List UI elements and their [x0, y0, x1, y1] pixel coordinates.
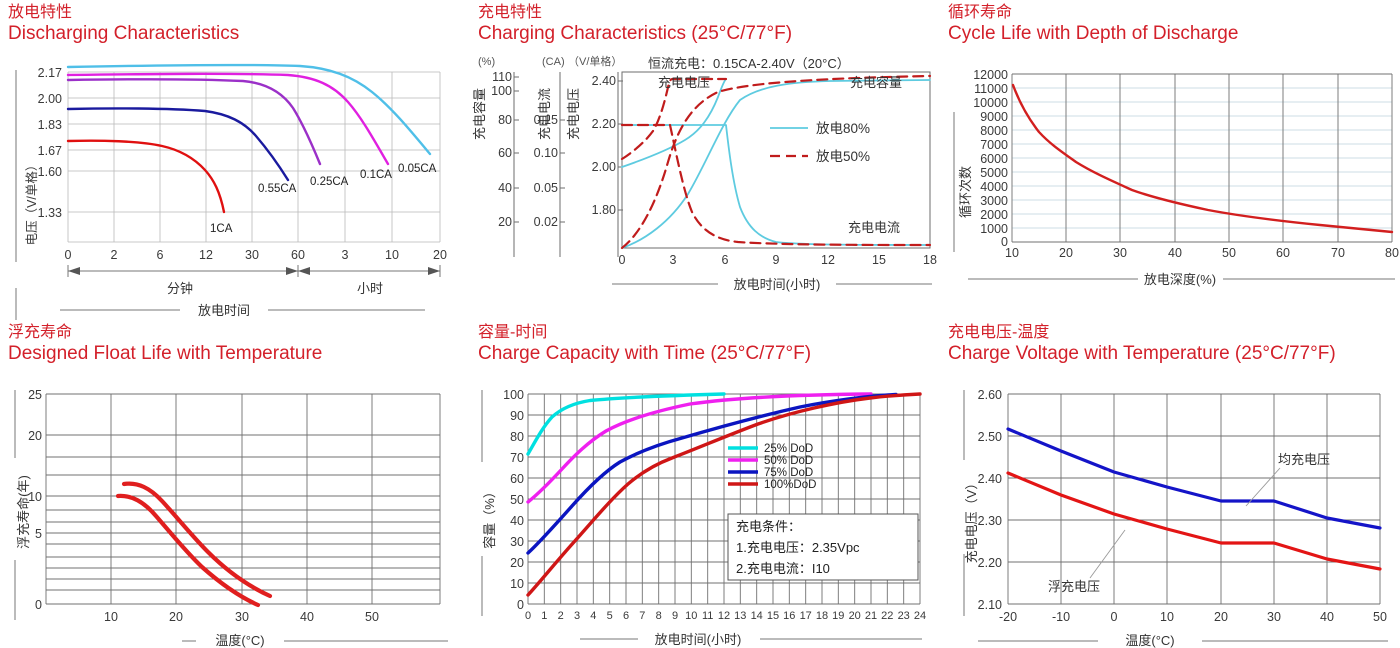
x-axis-label: 放电时间 — [198, 303, 250, 318]
y2tick: 0.10 — [534, 146, 558, 160]
ytick: 20 — [510, 556, 524, 570]
note-line-3: 2.充电电流：I10 — [736, 561, 830, 576]
ytick: 25 — [28, 388, 42, 402]
panel-charging-chart: 恒流充电：0.15CA-2.40V（20°C） (%) (CA) （V/单格） … — [470, 52, 940, 320]
annotation-equalize-voltage: 均充电压 — [1278, 452, 1330, 467]
xtick: 24 — [914, 610, 926, 622]
grid-lines — [46, 394, 440, 604]
ytick: 12000 — [973, 68, 1008, 82]
panel-chargecapacity-chart: 容量（%） — [470, 372, 940, 648]
xtick: 20 — [169, 610, 183, 624]
panel-chargecapacity: 容量-时间 Charge Capacity with Time (25°C/77… — [470, 320, 940, 648]
panel-cyclelife-chart: 循环次数 — [940, 52, 1400, 320]
ytick: 10 — [510, 577, 524, 591]
y2tick: 0.15 — [534, 113, 558, 127]
xtick: 5 — [607, 610, 613, 622]
xtick: 9 — [672, 610, 678, 622]
ytick: 6000 — [980, 152, 1008, 166]
annotation-charge-current: 充电电流 — [848, 220, 900, 235]
x-axis-label: 放电时间(小时) — [655, 632, 742, 647]
panel-chargevoltage: 充电电压-温度 Charge Voltage with Temperature … — [940, 320, 1400, 648]
xtick: 30 — [245, 248, 259, 262]
y1tick: 20 — [498, 215, 512, 229]
xtick: 2 — [111, 248, 118, 262]
panel-discharging: 放电特性 Discharging Characteristics — [0, 0, 470, 320]
panel-floatlife-title-en: Designed Float Life with Temperature — [8, 342, 322, 366]
ytick: 0 — [35, 598, 42, 612]
xtick: 0 — [1111, 610, 1118, 624]
curve-01CA — [68, 74, 388, 164]
xtick: 17 — [800, 610, 812, 622]
xtick: 21 — [865, 610, 877, 622]
y1-axis-label: 充电容量 — [472, 88, 487, 140]
xtick: 50 — [365, 610, 379, 624]
curve-float-voltage — [1008, 473, 1380, 569]
curve-label-005CA: 0.05CA — [398, 163, 437, 175]
curve-equalize-voltage — [1008, 429, 1380, 528]
panel-charging: 充电特性 Charging Characteristics (25°C/77°F… — [470, 0, 940, 320]
xtick: 3 — [670, 253, 677, 267]
xtick: 12 — [718, 610, 730, 622]
y1tick: 100 — [491, 84, 512, 98]
annotation-charge-capacity: 充电容量 — [850, 75, 902, 90]
legend-label-80: 放电80% — [816, 121, 870, 136]
xtick: 13 — [734, 610, 746, 622]
ytick: 70 — [510, 451, 524, 465]
xtick: 7 — [639, 610, 645, 622]
legend: 25% DoD 50% DoD 75% DoD 100%DoD — [728, 443, 816, 491]
xtick: 0 — [525, 610, 531, 622]
xtick: 15 — [767, 610, 779, 622]
y1tick: 40 — [498, 181, 512, 195]
panel-floatlife: 浮充寿命 Designed Float Life with Temperatur… — [0, 320, 470, 648]
xtick: 40 — [1168, 246, 1182, 260]
xtick: 50 — [1222, 246, 1236, 260]
panel-chargevoltage-title-cn: 充电电压-温度 — [948, 324, 1336, 342]
panel-floatlife-chart: 浮充寿命(年) — [0, 372, 470, 648]
y-axis-label: 容量（%） — [482, 485, 497, 549]
xtick: 40 — [300, 610, 314, 624]
x-sub-label-hours: 小时 — [357, 281, 383, 296]
ytick: 2.30 — [978, 514, 1002, 528]
y3tick: 2.20 — [592, 117, 616, 131]
ytick: 30 — [510, 535, 524, 549]
xtick: -20 — [999, 610, 1017, 624]
panel-discharging-chart: 2.17 2.00 1.83 1.67 1.60 1.33 电压（V/单格） 1… — [0, 52, 470, 320]
ytick: 2.50 — [978, 430, 1002, 444]
y1tick: 80 — [498, 113, 512, 127]
panel-charging-title-cn: 充电特性 — [478, 4, 792, 22]
ytick: 8000 — [980, 124, 1008, 138]
y1tick: 110 — [492, 70, 512, 84]
xtick: 0 — [65, 248, 72, 262]
y-axis-label: 浮充寿命(年) — [16, 475, 31, 549]
xtick: 11 — [702, 610, 713, 622]
annotation-float-voltage: 浮充电压 — [1048, 579, 1100, 594]
x-axis-label: 放电时间(小时) — [734, 277, 821, 292]
ytick: 4000 — [980, 180, 1008, 194]
curve-label-01CA: 0.1CA — [360, 169, 392, 181]
annotation-charge-voltage: 充电电压 — [658, 75, 710, 90]
grid-lines — [1008, 394, 1380, 604]
panel-chargevoltage-chart: 充电电压（V） 2.60 2.50 2.40 — [940, 372, 1400, 648]
y2tick: 0.02 — [534, 215, 558, 229]
xtick: 9 — [773, 253, 780, 267]
xtick: 15 — [872, 253, 886, 267]
ytick: 20 — [28, 429, 42, 443]
panel-floatlife-title-cn: 浮充寿命 — [8, 324, 322, 342]
ytick: 80 — [510, 430, 524, 444]
xtick: 70 — [1331, 246, 1345, 260]
ytick: 2000 — [980, 208, 1008, 222]
x-range-brackets — [68, 265, 440, 277]
ytick: 2.00 — [38, 92, 62, 106]
panel-discharging-title-en: Discharging Characteristics — [8, 22, 239, 46]
xtick: 10 — [1160, 610, 1174, 624]
ytick: 2.60 — [978, 388, 1002, 402]
xtick: 18 — [816, 610, 828, 622]
x-axis-label: 温度(°C) — [215, 633, 264, 648]
charge-condition-text: 恒流充电：0.15CA-2.40V（20°C） — [648, 56, 850, 71]
ytick: 100 — [503, 388, 524, 402]
xtick: 10 — [104, 610, 118, 624]
panel-cyclelife: 循环寿命 Cycle Life with Depth of Discharge … — [940, 0, 1400, 320]
curve-025CA — [68, 79, 320, 164]
x-sub-label-minutes: 分钟 — [167, 281, 193, 296]
xtick: 6 — [722, 253, 729, 267]
ytick: 10000 — [973, 96, 1008, 110]
xtick: 60 — [291, 248, 305, 262]
panel-chargevoltage-titles: 充电电压-温度 Charge Voltage with Temperature … — [948, 324, 1336, 366]
ytick: 60 — [510, 472, 524, 486]
ytick: 5000 — [980, 166, 1008, 180]
xtick: 60 — [1276, 246, 1290, 260]
ytick: 1.33 — [38, 206, 62, 220]
xtick: -10 — [1052, 610, 1070, 624]
xtick: 30 — [235, 610, 249, 624]
panel-cyclelife-title-cn: 循环寿命 — [948, 4, 1238, 22]
y-axis-label: 电压（V/单格） — [24, 159, 39, 246]
ytick: 1.67 — [38, 144, 62, 158]
xtick: 16 — [783, 610, 795, 622]
ytick: 7000 — [980, 138, 1008, 152]
xtick: 80 — [1385, 246, 1399, 260]
xtick: 12 — [199, 248, 213, 262]
x-axis-label: 放电深度(%) — [1144, 272, 1216, 287]
curve-1CA — [68, 141, 224, 212]
curve-055CA — [68, 108, 288, 180]
ytick: 50 — [510, 493, 524, 507]
xtick: 30 — [1113, 246, 1127, 260]
xtick: 23 — [898, 610, 910, 622]
legend-label-25dod: 25% DoD — [764, 443, 813, 455]
xtick: 8 — [656, 610, 662, 622]
panel-chargecapacity-title-en: Charge Capacity with Time (25°C/77°F) — [478, 342, 811, 366]
charts-grid: 放电特性 Discharging Characteristics — [0, 0, 1400, 648]
xtick: 22 — [881, 610, 893, 622]
ytick: 2.17 — [38, 66, 62, 80]
y1-unit: (%) — [478, 56, 495, 68]
y1tick: 60 — [498, 146, 512, 160]
xtick: 3 — [574, 610, 580, 622]
panel-discharging-titles: 放电特性 Discharging Characteristics — [8, 4, 239, 46]
xtick: 20 — [1059, 246, 1073, 260]
ytick: 9000 — [980, 110, 1008, 124]
y2tick: 0.05 — [534, 181, 558, 195]
xtick: 10 — [1005, 246, 1019, 260]
ytick: 1.83 — [38, 118, 62, 132]
panel-cyclelife-title-en: Cycle Life with Depth of Discharge — [948, 22, 1238, 46]
y-axis-label: 循环次数 — [958, 166, 973, 218]
ytick: 10 — [28, 490, 42, 504]
ytick: 2.40 — [978, 472, 1002, 486]
legend-label-50dod: 50% DoD — [764, 455, 813, 467]
note-line-1: 充电条件： — [736, 519, 801, 534]
panel-floatlife-titles: 浮充寿命 Designed Float Life with Temperatur… — [8, 324, 322, 366]
note-line-2: 1.充电电压：2.35Vpc — [736, 540, 860, 555]
curve-label-025CA: 0.25CA — [310, 176, 349, 188]
y3tick: 2.00 — [592, 160, 616, 174]
xtick: 20 — [849, 610, 861, 622]
ytick: 90 — [510, 409, 524, 423]
xtick: 20 — [1214, 610, 1228, 624]
ytick: 2.20 — [978, 556, 1002, 570]
panel-discharging-title-cn: 放电特性 — [8, 4, 239, 22]
panel-cyclelife-titles: 循环寿命 Cycle Life with Depth of Discharge — [948, 4, 1238, 46]
y3tick: 2.40 — [592, 74, 616, 88]
xtick: 14 — [751, 610, 763, 622]
y3-axis-label: 充电电压 — [566, 88, 581, 140]
xtick: 10 — [385, 248, 399, 262]
xtick: 0 — [619, 253, 626, 267]
xtick: 30 — [1267, 610, 1281, 624]
panel-charging-titles: 充电特性 Charging Characteristics (25°C/77°F… — [478, 4, 792, 46]
ytick: 5 — [35, 527, 42, 541]
curve-label-055CA: 0.55CA — [258, 183, 297, 195]
xtick: 1 — [541, 610, 547, 622]
ytick: 3000 — [980, 194, 1008, 208]
xtick: 40 — [1320, 610, 1334, 624]
y3-unit: （V/单格） — [568, 54, 622, 68]
xtick: 20 — [433, 248, 447, 262]
charge-conditions-note: 充电条件： 1.充电电压：2.35Vpc 2.充电电流：I10 — [728, 514, 918, 580]
xtick: 19 — [832, 610, 844, 622]
legend: 放电80% 放电50% — [770, 121, 870, 164]
panel-chargecapacity-titles: 容量-时间 Charge Capacity with Time (25°C/77… — [478, 324, 811, 366]
legend-label-50: 放电50% — [816, 149, 870, 164]
xtick: 10 — [685, 610, 697, 622]
curve-label-1CA: 1CA — [210, 223, 233, 235]
legend-label-75dod: 75% DoD — [764, 467, 813, 479]
x-axis-label: 温度(°C) — [1125, 633, 1174, 648]
ytick: 1.60 — [38, 165, 62, 179]
xtick: 50 — [1373, 610, 1387, 624]
xtick: 6 — [623, 610, 629, 622]
ytick: 0 — [517, 598, 524, 612]
y3tick: 1.80 — [592, 203, 616, 217]
panel-chargecapacity-title-cn: 容量-时间 — [478, 324, 811, 342]
panel-chargevoltage-title-en: Charge Voltage with Temperature (25°C/77… — [948, 342, 1336, 366]
y2-unit: (CA) — [542, 56, 565, 68]
ytick: 11000 — [974, 82, 1008, 96]
xtick: 4 — [590, 610, 596, 622]
xtick: 2 — [558, 610, 564, 622]
xtick: 3 — [342, 248, 349, 262]
legend-label-100dod: 100%DoD — [764, 479, 816, 491]
xtick: 18 — [923, 253, 937, 267]
curve-cycle-life — [1013, 85, 1392, 232]
xtick: 6 — [157, 248, 164, 262]
panel-charging-title-en: Charging Characteristics (25°C/77°F) — [478, 22, 792, 46]
ytick: 1000 — [980, 222, 1008, 236]
curve-80-voltage — [622, 79, 726, 167]
ytick: 40 — [510, 514, 524, 528]
xtick: 12 — [821, 253, 835, 267]
curve-float-life-lower — [118, 496, 258, 605]
